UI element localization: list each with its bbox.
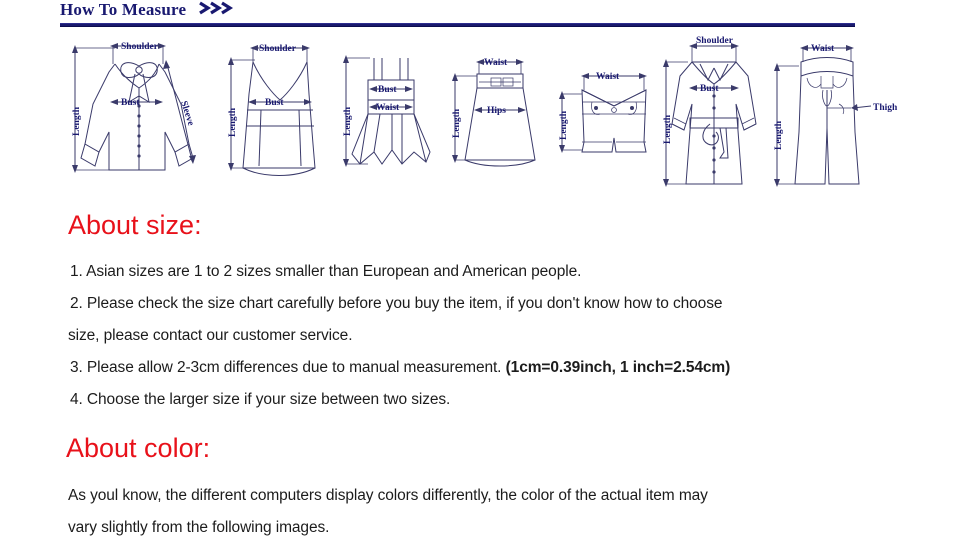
diagram-label-waist: Waist <box>596 72 620 82</box>
diagram-trousers: Waist Thigh Length <box>755 32 915 197</box>
diagram-label-waist: Waist <box>484 58 508 68</box>
diagram-label-length: Length <box>72 106 82 136</box>
diagram-a-line-skirt: Waist Hips Length <box>435 32 555 197</box>
diagram-label-shoulder: Shoulder <box>259 44 297 54</box>
about-size-heading: About size: <box>68 210 202 241</box>
diagram-label-length: Length <box>774 120 784 150</box>
diagram-label-bust: Bust <box>121 98 140 108</box>
header-divider <box>60 23 855 27</box>
diagram-blouse-with-bow: Shoulder Bust Length Sleeve <box>55 32 230 197</box>
diagram-label-sleeve: Sleeve <box>178 100 195 127</box>
diagram-label-length: Length <box>343 106 353 136</box>
unit-conversion-note: (1cm=0.39inch, 1 inch=2.54cm) <box>506 359 731 376</box>
diagram-v-neck-tank-top: Shoulder Bust Length <box>215 32 335 197</box>
diagram-label-bust: Bust <box>265 98 284 108</box>
diagram-label-length: Length <box>663 114 673 144</box>
page-title: How To Measure <box>60 0 186 20</box>
about-size-item-3: 3. Please allow 2-3cm differences due to… <box>70 359 730 377</box>
about-size-item-2-continued: size, please contact our customer servic… <box>68 327 352 345</box>
about-color-line-1: As youl know, the different computers di… <box>68 487 708 505</box>
header: How To Measure <box>60 0 860 21</box>
about-color-line-2: vary slightly from the following images. <box>68 519 329 537</box>
diagram-label-bust: Bust <box>378 85 397 95</box>
about-size-item-1: 1. Asian sizes are 1 to 2 sizes smaller … <box>70 263 581 281</box>
about-size-item-3-text: 3. Please allow 2-3cm differences due to… <box>70 359 506 376</box>
triple-chevron-right-icon <box>197 0 237 21</box>
diagram-pinafore-dress: Bust Waist Length <box>330 32 450 197</box>
about-color-heading: About color: <box>66 433 210 464</box>
diagram-label-thigh: Thigh <box>873 103 898 113</box>
diagram-label-bust: Bust <box>700 84 719 94</box>
diagram-label-waist: Waist <box>811 44 835 54</box>
diagram-label-hips: Hips <box>487 106 506 116</box>
about-size-item-4: 4. Choose the larger size if your size b… <box>70 391 450 409</box>
diagram-label-shoulder: Shoulder <box>121 42 159 52</box>
diagram-label-shoulder: Shoulder <box>696 36 734 46</box>
diagram-label-length: Length <box>452 108 462 138</box>
diagram-label-length: Length <box>559 110 569 140</box>
diagram-label-waist: Waist <box>376 103 400 113</box>
diagram-label-length: Length <box>228 107 238 137</box>
measurement-diagram-strip: Shoulder Bust Length Sleeve <box>55 32 915 197</box>
size-guide-page: How To Measure <box>0 0 972 547</box>
about-size-item-2: 2. Please check the size chart carefully… <box>70 295 722 313</box>
